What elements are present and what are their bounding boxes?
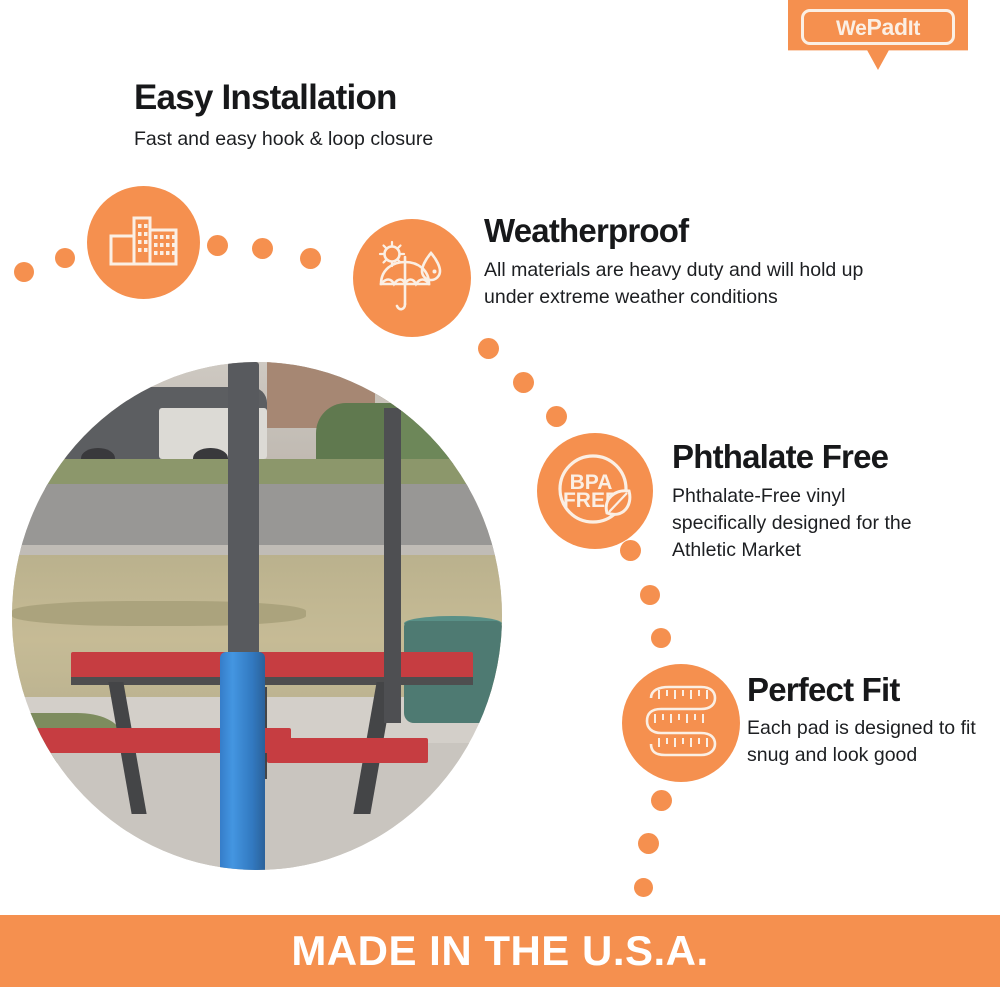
measuring-tape-icon — [639, 682, 723, 764]
feature-title-easy-installation: Easy Installation — [134, 80, 397, 117]
feature-desc-phthalate-free: Phthalate-Free vinyl specifically design… — [672, 483, 942, 564]
logo-text-pad: Pad — [867, 14, 908, 40]
logo-text-we: We — [836, 17, 867, 40]
made-in-usa-banner: MADE IN THE U.S.A. — [0, 915, 1000, 987]
building-icon — [108, 212, 180, 274]
trail-dot — [638, 833, 659, 854]
feature-icon-easy-installation — [87, 186, 200, 299]
feature-icon-weatherproof — [353, 219, 471, 337]
feature-icon-perfect-fit — [622, 664, 740, 782]
trail-dot — [620, 540, 641, 561]
trail-dot — [546, 406, 567, 427]
logo-text-it: It — [908, 17, 920, 40]
bpa-free-leaf-icon: BPA FREE — [545, 441, 645, 541]
feature-desc-easy-installation: Fast and easy hook & loop closure — [134, 126, 554, 153]
logo-text: WePadIt — [836, 16, 920, 39]
trail-dot — [207, 235, 228, 256]
feature-title-weatherproof: Weatherproof — [484, 214, 688, 249]
trail-dot — [513, 372, 534, 393]
feature-title-phthalate-free: Phthalate Free — [672, 440, 888, 475]
feature-desc-weatherproof: All materials are heavy duty and will ho… — [484, 257, 914, 311]
product-photo — [12, 362, 502, 870]
trail-dot — [55, 248, 75, 268]
feature-icon-phthalate-free: BPA FREE — [537, 433, 653, 549]
trail-dot — [651, 790, 672, 811]
feature-desc-perfect-fit: Each pad is designed to fit snug and loo… — [747, 715, 982, 769]
infographic-page: WePadIt Easy Installation Fast and easy … — [0, 0, 1000, 987]
trail-dot — [634, 878, 653, 897]
feature-title-perfect-fit: Perfect Fit — [747, 673, 900, 708]
trail-dot — [14, 262, 34, 282]
made-in-usa-text: MADE IN THE U.S.A. — [291, 927, 708, 975]
trail-dot — [640, 585, 660, 605]
brand-logo: WePadIt — [788, 0, 968, 70]
sun-umbrella-raindrop-icon — [372, 240, 452, 316]
trail-dot — [300, 248, 321, 269]
trail-dot — [651, 628, 671, 648]
trail-dot — [252, 238, 273, 259]
trail-dot — [478, 338, 499, 359]
logo-outline-box: WePadIt — [801, 9, 955, 45]
